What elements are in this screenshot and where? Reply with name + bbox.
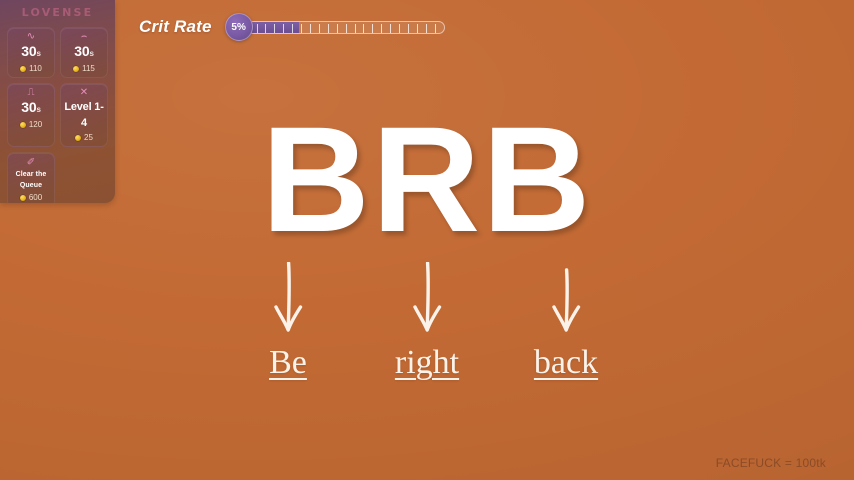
crit-rate-tick — [346, 24, 347, 33]
token-coin-icon — [73, 66, 79, 72]
explainer-word: right — [395, 344, 459, 382]
square-wave-icon: ⎍ — [10, 87, 52, 99]
down-arrow-icon — [406, 262, 448, 334]
crit-rate-badge-value: 5% — [231, 22, 245, 33]
crit-rate-tick — [408, 24, 409, 33]
crit-rate-tick — [372, 24, 373, 33]
crit-rate-tick — [265, 24, 266, 33]
wave-pattern-icon: ∿ — [10, 31, 52, 43]
crit-rate-badge: 5% — [225, 13, 253, 41]
lovense-brand-logo: LOVENSE — [0, 6, 115, 19]
explainer-item: back — [506, 262, 626, 382]
tip-card-pulse-30s[interactable]: ⌢ 30s 115 — [60, 27, 108, 78]
crit-rate-tick — [328, 24, 329, 33]
crit-rate-tick — [435, 24, 436, 33]
token-coin-icon — [20, 66, 26, 72]
brb-explainer-row: Be right back — [228, 262, 626, 382]
crit-rate-tick — [319, 24, 320, 33]
crit-rate-tick — [426, 24, 427, 33]
stream-overlay-screen: LOVENSE ∿ 30s 110 ⌢ 30s 115 ⎍ — [0, 0, 854, 480]
pulse-arch-icon: ⌢ — [63, 31, 105, 43]
crit-rate-tick — [283, 24, 284, 33]
tip-card-duration: 30s — [10, 43, 52, 62]
crit-rate-tick — [292, 24, 293, 33]
explainer-item: right — [367, 262, 487, 382]
tip-card-wave-30s[interactable]: ∿ 30s 110 — [7, 27, 55, 78]
crit-rate-tick — [363, 24, 364, 33]
crit-rate-tick — [274, 24, 275, 33]
crit-rate-label: Crit Rate — [139, 17, 212, 37]
explainer-word: Be — [269, 344, 307, 382]
tip-cost-value: 110 — [29, 63, 42, 74]
crit-rate-progress-fill — [248, 22, 299, 33]
page-title: BRB — [0, 104, 854, 254]
crit-rate-progress-track — [247, 21, 445, 34]
down-arrow-icon — [545, 262, 587, 334]
crit-rate-tick — [381, 24, 382, 33]
crit-rate-tick — [310, 24, 311, 33]
tip-card-duration: 30s — [63, 43, 105, 62]
crit-rate-tick — [257, 24, 258, 33]
crit-rate-tick — [355, 24, 356, 33]
explainer-word: back — [534, 344, 598, 382]
tip-card-cost: 115 — [63, 63, 105, 74]
down-arrow-icon — [267, 262, 309, 334]
crit-rate-track-wrapper: 5% — [225, 13, 445, 41]
crit-rate-tick — [390, 24, 391, 33]
crit-rate-tick — [417, 24, 418, 33]
level-range-icon: ✕ — [63, 87, 105, 99]
crit-rate-tick — [301, 24, 302, 33]
explainer-item: Be — [228, 262, 348, 382]
crit-rate-meter: Crit Rate 5% — [139, 13, 445, 41]
crit-rate-tick — [337, 24, 338, 33]
tip-cost-value: 115 — [82, 63, 95, 74]
crit-rate-tick — [399, 24, 400, 33]
tip-note-text: FACEFUCK = 100tk — [716, 456, 826, 470]
tip-card-cost: 110 — [10, 63, 52, 74]
